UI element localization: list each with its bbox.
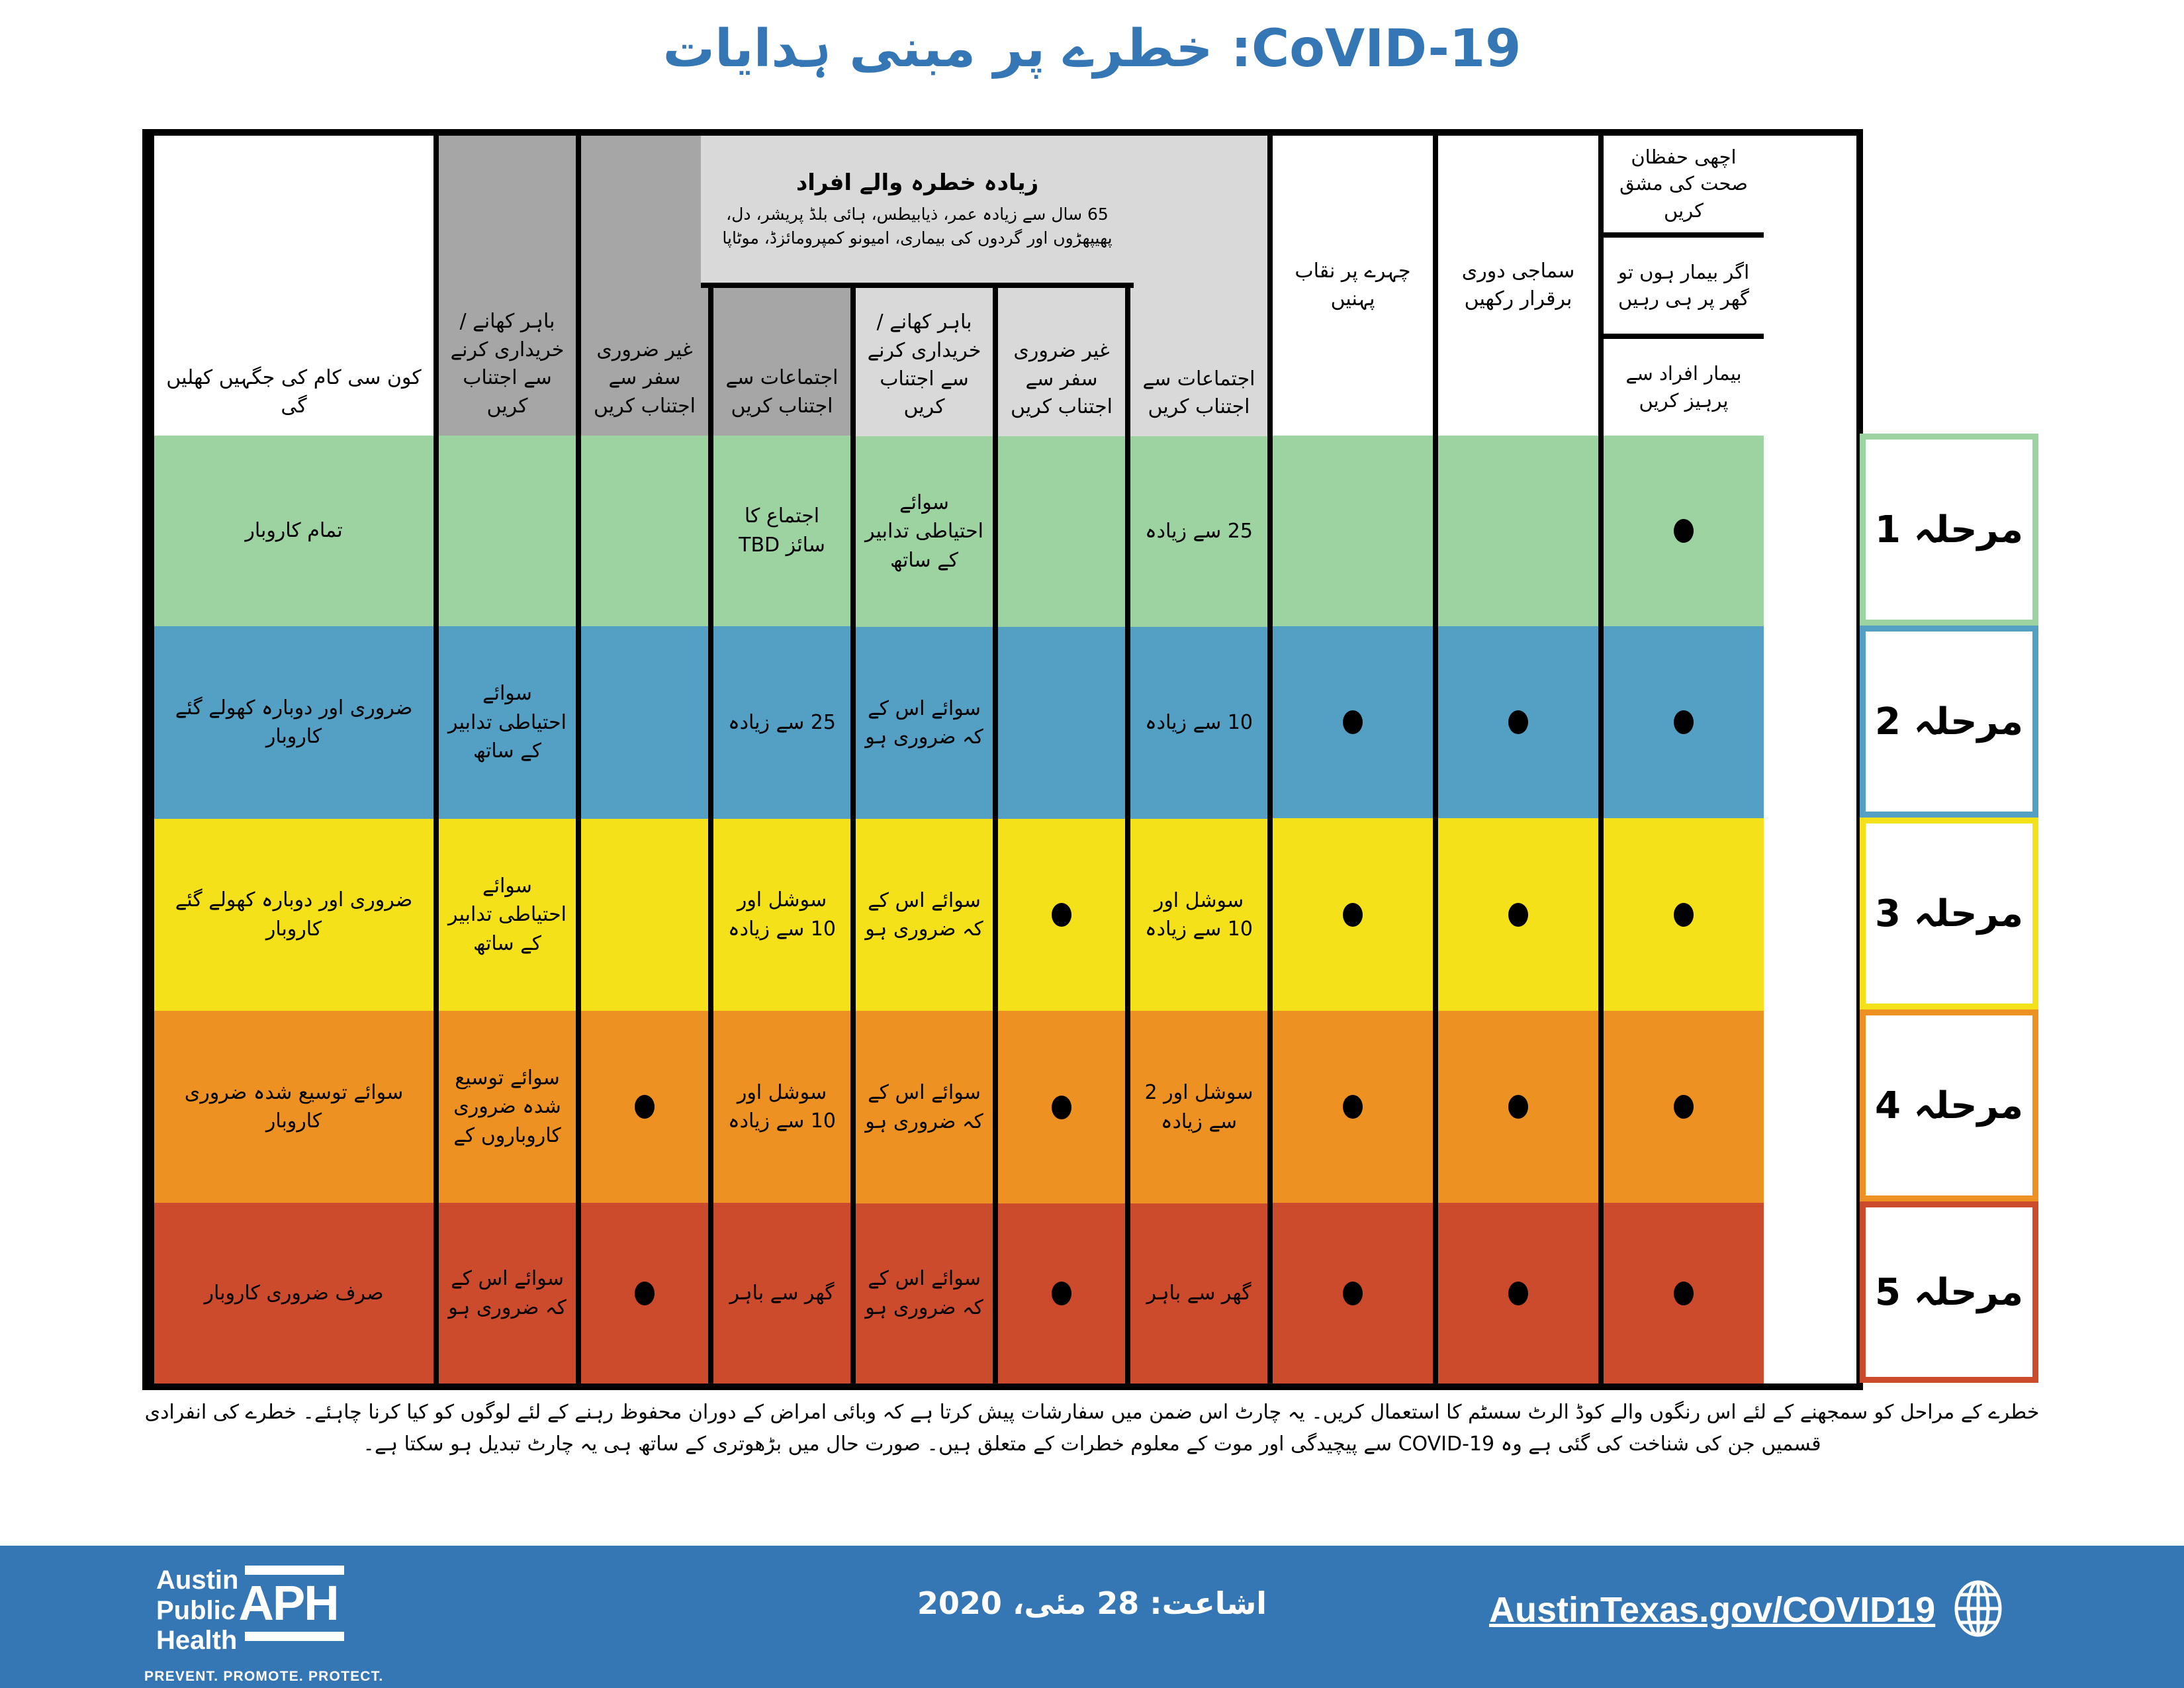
table-column-mask: چہرے پر نقاب پہنیں (1267, 136, 1433, 1383)
table-column-highrisk-travel: غیر ضروری سفر سے اجتناب کریں (993, 136, 1125, 1383)
website-link[interactable]: AustinTexas.gov/COVID19 (1489, 1580, 2004, 1640)
requirement-dot-icon (635, 1282, 655, 1305)
table-column-highrisk-dining: باہر کھانے / خریداری کرنے سے اجتناب کریں… (850, 136, 993, 1383)
cell-hygiene-stage3 (1604, 818, 1764, 1010)
risk-guidelines-table: کون سی کام کی جگہیں کھلیں گیتمام کاروبار… (142, 129, 1863, 1390)
cell-general-dining-stage5: سوائے اس کے کہ ضروری ہو (439, 1203, 576, 1383)
cell-highrisk-gatherings-stage4: سوشل اور 2 سے زیادہ (1130, 1011, 1267, 1203)
cell-hygiene-stage5 (1604, 1203, 1764, 1383)
cell-general-travel-stage2 (581, 626, 708, 818)
cell-highrisk-travel-stage4 (998, 1011, 1125, 1203)
cell-hygiene-stage1 (1604, 436, 1764, 626)
cell-general-dining-stage2: سوائے احتیاطی تدابیر کے ساتھ (439, 626, 576, 818)
column-header-distancing: سماجی دوری برقرار رکھیں (1438, 136, 1598, 436)
hygiene-header-stack: اچھی حفظان صحت کی مشق کریںاگر بیمار ہوں … (1604, 136, 1764, 436)
column-header-hygiene-1: اچھی حفظان صحت کی مشق کریں (1604, 136, 1764, 238)
requirement-dot-icon (1674, 1282, 1694, 1305)
stage-badge-4: مرحلہ 4 (1860, 1009, 2038, 1201)
requirement-dot-icon (1052, 1282, 1071, 1305)
stage-badge-5: مرحلہ 5 (1860, 1201, 2038, 1383)
stage-badge-3: مرحلہ 3 (1860, 818, 2038, 1009)
cell-business-stage2: ضروری اور دوبارہ کھولے گئے کاروبار (154, 626, 433, 818)
cell-highrisk-gatherings-stage1: 25 سے زیادہ (1130, 436, 1267, 627)
requirement-dot-icon (1052, 1096, 1071, 1119)
high-risk-group-title: زیادہ خطرہ والے افراد (796, 168, 1038, 197)
requirement-dot-icon (1343, 903, 1363, 927)
table-column-distancing: سماجی دوری برقرار رکھیں (1433, 136, 1598, 1383)
cell-distancing-stage3 (1438, 818, 1598, 1010)
cell-highrisk-dining-stage2: سوائے اس کے کہ ضروری ہو (856, 627, 993, 819)
cell-highrisk-travel-stage3 (998, 819, 1125, 1011)
page-title: CoVID-19: خطرے پر مبنی ہدایات (663, 19, 1522, 79)
column-header-mask: چہرے پر نقاب پہنیں (1273, 136, 1433, 436)
cell-distancing-stage2 (1438, 626, 1598, 818)
cell-general-gatherings-stage1: اجتماع کا سائز TBD (713, 436, 850, 626)
cell-distancing-stage1 (1438, 436, 1598, 626)
cell-general-gatherings-stage4: سوشل اور 10 سے زیادہ (713, 1011, 850, 1203)
cell-highrisk-travel-stage1 (998, 436, 1125, 627)
table-column-highrisk-gatherings: اجتماعات سے اجتناب کریں25 سے زیادہ10 سے … (1125, 136, 1267, 1383)
cell-general-gatherings-stage5: گھر سے باہر (713, 1203, 850, 1383)
cell-business-stage5: صرف ضروری کاروبار (154, 1203, 433, 1383)
aph-tagline: PREVENT. PROMOTE. PROTECT. (144, 1669, 383, 1685)
page-title-bar: CoVID-19: خطرے پر مبنی ہدایات (0, 0, 2184, 86)
table-column-general-dining: باہر کھانے / خریداری کرنے سے اجتناب کریں… (433, 136, 576, 1383)
cell-highrisk-gatherings-stage3: سوشل اور 10 سے زیادہ (1130, 819, 1267, 1011)
requirement-dot-icon (1508, 1282, 1528, 1305)
aph-logo-bottom-bar (245, 1632, 344, 1641)
cell-mask-stage1 (1273, 436, 1433, 626)
globe-icon (1952, 1580, 2004, 1640)
requirement-dot-icon (1052, 903, 1071, 927)
stage-badge-2: مرحلہ 2 (1860, 626, 2038, 818)
requirement-dot-icon (1343, 1282, 1363, 1305)
cell-hygiene-stage4 (1604, 1011, 1764, 1203)
cell-hygiene-stage2 (1604, 626, 1764, 818)
cell-mask-stage2 (1273, 626, 1433, 818)
cell-general-travel-stage5 (581, 1203, 708, 1383)
column-header-general-travel: غیر ضروری سفر سے اجتناب کریں (581, 136, 708, 436)
column-header-hygiene-3: بیمار افراد سے پرہیز کریں (1604, 339, 1764, 436)
cell-highrisk-dining-stage4: سوائے اس کے کہ ضروری ہو (856, 1011, 993, 1203)
cell-general-travel-stage1 (581, 436, 708, 626)
cell-general-gatherings-stage2: 25 سے زیادہ (713, 626, 850, 818)
stage-badge-column: مرحلہ 1مرحلہ 2مرحلہ 3مرحلہ 4مرحلہ 5 (1860, 434, 2038, 1383)
requirement-dot-icon (1674, 519, 1694, 543)
cell-general-dining-stage3: سوائے احتیاطی تدابیر کے ساتھ (439, 819, 576, 1011)
website-url-text[interactable]: AustinTexas.gov/COVID19 (1489, 1589, 1935, 1630)
table-column-business: کون سی کام کی جگہیں کھلیں گیتمام کاروبار… (149, 136, 433, 1383)
requirement-dot-icon (1508, 1095, 1528, 1119)
column-header-hygiene-2: اگر بیمار ہوں تو گھر پر ہی رہیں (1604, 238, 1764, 340)
cell-highrisk-dining-stage1: سوائے احتیاطی تدابیر کے ساتھ (856, 436, 993, 627)
high-risk-group-subtitle: 65 سال سے زیادہ عمر، ذیابیطس، ہائی بلڈ پ… (713, 203, 1122, 251)
requirement-dot-icon (1674, 710, 1694, 734)
cell-highrisk-dining-stage5: سوائے اس کے کہ ضروری ہو (856, 1203, 993, 1383)
cell-highrisk-travel-stage5 (998, 1203, 1125, 1383)
cell-highrisk-travel-stage2 (998, 627, 1125, 819)
cell-mask-stage5 (1273, 1203, 1433, 1383)
cell-general-gatherings-stage3: سوشل اور 10 سے زیادہ (713, 819, 850, 1011)
cell-highrisk-dining-stage3: سوائے اس کے کہ ضروری ہو (856, 819, 993, 1011)
cell-highrisk-gatherings-stage5: گھر سے باہر (1130, 1203, 1267, 1383)
cell-business-stage1: تمام کاروبار (154, 436, 433, 626)
requirement-dot-icon (635, 1095, 655, 1119)
requirement-dot-icon (1674, 1095, 1694, 1119)
cell-general-travel-stage4 (581, 1011, 708, 1203)
requirement-dot-icon (1508, 710, 1528, 734)
footer-bar: APH Austin Public Health PREVENT. PROMOT… (0, 1546, 2184, 1688)
cell-general-dining-stage4: سوائے توسیع شدہ ضروری کاروباروں کے (439, 1011, 576, 1203)
column-header-business: کون سی کام کی جگہیں کھلیں گی (154, 136, 433, 436)
column-header-general-dining: باہر کھانے / خریداری کرنے سے اجتناب کریں (439, 136, 576, 436)
table-column-hygiene: اچھی حفظان صحت کی مشق کریںاگر بیمار ہوں … (1598, 136, 1764, 1383)
requirement-dot-icon (1343, 1095, 1363, 1119)
table-column-general-travel: غیر ضروری سفر سے اجتناب کریں (576, 136, 708, 1383)
cell-distancing-stage4 (1438, 1011, 1598, 1203)
table-column-general-gatherings: اجتماعات سے اجتناب کریںاجتماع کا سائز TB… (708, 136, 850, 1383)
requirement-dot-icon (1508, 903, 1528, 927)
aph-logo-top-bar (245, 1566, 344, 1575)
high-risk-group-header: زیادہ خطرہ والے افراد65 سال سے زیادہ عمر… (701, 136, 1134, 288)
cell-general-dining-stage1 (439, 436, 576, 626)
cell-distancing-stage5 (1438, 1203, 1598, 1383)
cell-mask-stage4 (1273, 1011, 1433, 1203)
cell-business-stage4: سوائے توسیع شدہ ضروری کاروبار (154, 1011, 433, 1203)
requirement-dot-icon (1674, 903, 1694, 927)
cell-general-travel-stage3 (581, 819, 708, 1011)
stage-badge-1: مرحلہ 1 (1860, 434, 2038, 626)
cell-highrisk-gatherings-stage2: 10 سے زیادہ (1130, 627, 1267, 819)
column-header-highrisk-gatherings: اجتماعات سے اجتناب کریں (1130, 136, 1267, 436)
requirement-dot-icon (1343, 710, 1363, 734)
aph-logo-line-health: Health (156, 1626, 238, 1656)
cell-mask-stage3 (1273, 818, 1433, 1010)
cell-business-stage3: ضروری اور دوبارہ کھولے گئے کاروبار (154, 819, 433, 1011)
explanatory-note: خطرے کے مراحل کو سمجھنے کے لئے اس رنگوں … (119, 1397, 2065, 1460)
